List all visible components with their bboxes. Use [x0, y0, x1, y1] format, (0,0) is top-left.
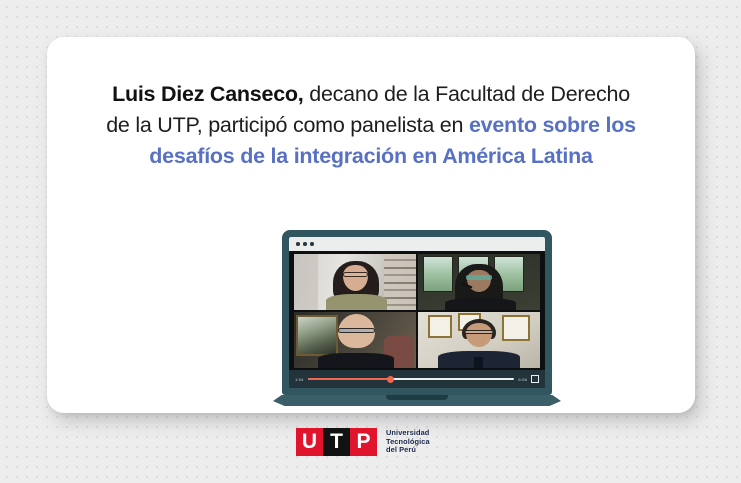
tile3-suit: [318, 353, 394, 368]
utp-wordmark: Universidad Tecnológica del Perú: [386, 429, 430, 455]
video-tile-1[interactable]: [294, 254, 416, 310]
laptop-screen: 1:04 6:08: [289, 237, 545, 388]
video-player-controls: 1:04 6:08: [289, 370, 545, 388]
tile1-torso: [326, 294, 387, 310]
progress-scrubber[interactable]: [308, 378, 515, 380]
tile3-glasses: [338, 328, 375, 333]
elapsed-time-label: 1:04: [295, 377, 304, 382]
tile2-window-1: [423, 256, 454, 292]
headline-accent-1: evento sobre los: [469, 113, 636, 137]
video-tile-2[interactable]: [418, 254, 540, 310]
laptop-lid: 1:04 6:08: [282, 230, 552, 395]
tile1-wall: [294, 254, 318, 310]
logo-letter-u: U: [296, 428, 323, 456]
progress-fill: [308, 378, 391, 380]
duration-label: 6:08: [518, 377, 527, 382]
laptop-base-notch: [386, 395, 448, 400]
progress-handle[interactable]: [387, 376, 394, 383]
poster-canvas: Luis Diez Canseco, decano de la Facultad…: [0, 0, 741, 483]
logo-letter-t: T: [323, 428, 350, 456]
video-tile-3[interactable]: [294, 312, 416, 368]
browser-titlebar: [289, 237, 545, 251]
page-title: Luis Diez Canseco, decano de la Facultad…: [83, 79, 659, 172]
video-tile-4[interactable]: [418, 312, 540, 368]
tile2-torso: [445, 298, 516, 310]
video-grid: [289, 251, 545, 370]
fullscreen-icon[interactable]: [531, 375, 539, 383]
utp-logomark: U T P: [296, 428, 377, 456]
tile1-glasses: [343, 272, 369, 276]
window-dot-minimize-icon[interactable]: [303, 242, 307, 246]
tile4-glasses: [464, 330, 493, 334]
headline-name: Luis Diez Canseco,: [112, 82, 303, 106]
tile4-certificate-1: [428, 315, 453, 338]
utp-logo: U T P Universidad Tecnológica del Perú: [296, 428, 430, 456]
headline-accent-2: desafíos de la integración en América La…: [149, 144, 592, 168]
window-dot-close-icon[interactable]: [296, 242, 300, 246]
wordmark-line-3: del Perú: [386, 446, 430, 455]
tile2-glasses: [466, 275, 493, 279]
laptop-illustration: 1:04 6:08: [273, 230, 561, 410]
tile4-tie: [474, 357, 483, 368]
headline-line2: de la UTP, participó como panelista en: [106, 113, 469, 137]
logo-letter-p: P: [350, 428, 377, 456]
headline-line1-rest: decano de la Facultad de Derecho: [304, 82, 630, 106]
tile4-face: [466, 323, 493, 347]
tile4-certificate-3: [502, 315, 530, 341]
tile1-bookshelf: [384, 254, 416, 310]
tile3-painting: [296, 315, 337, 355]
content-card: Luis Diez Canseco, decano de la Facultad…: [47, 37, 695, 413]
window-dot-maximize-icon[interactable]: [310, 242, 314, 246]
